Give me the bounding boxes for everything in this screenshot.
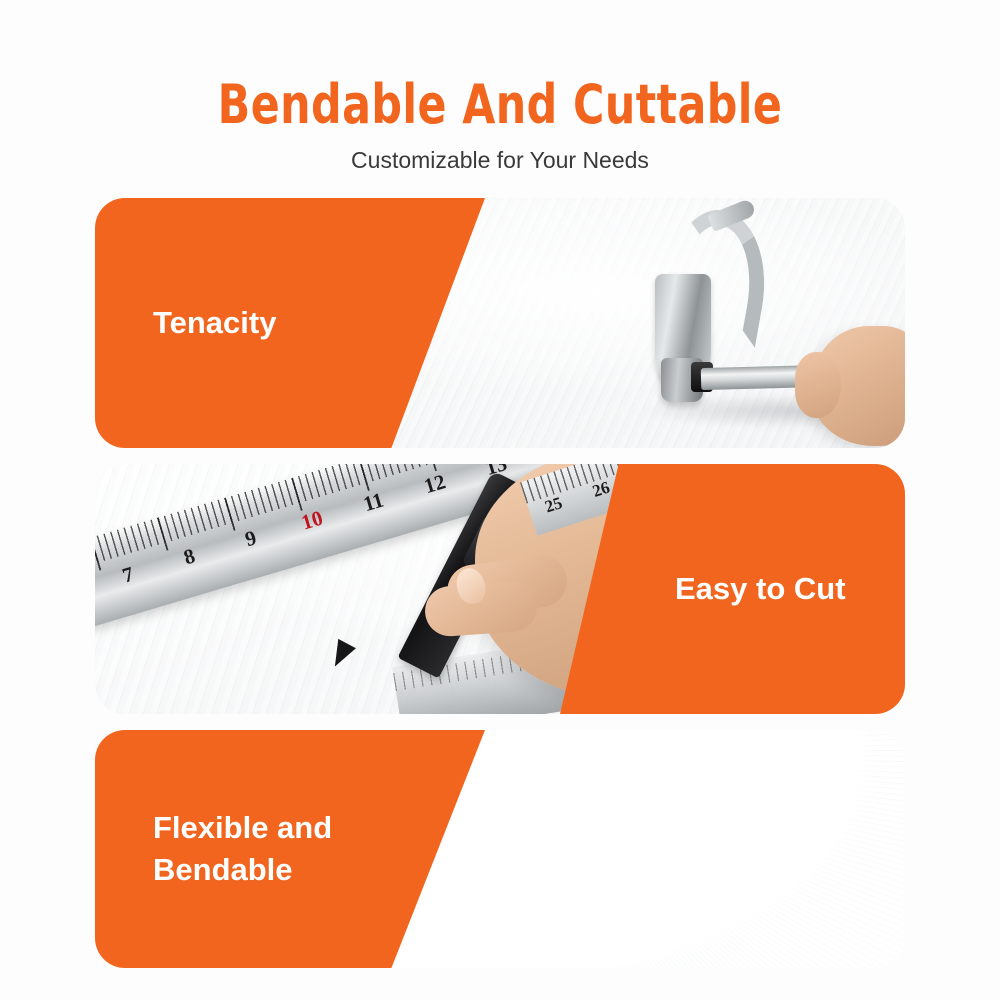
panel-label-tenacity: Tenacity [153,302,276,344]
feature-panel-tenacity[interactable]: Tenacity [95,198,905,448]
header: Bendable And Cuttable Customizable for Y… [0,0,1000,174]
label-wedge-easy-to-cut: Easy to Cut [560,464,905,714]
feature-panel-easy-to-cut[interactable]: 6 7 8 9 10 11 12 13 14 15 25 26 [95,464,905,714]
page-subtitle: Customizable for Your Needs [0,134,1000,174]
feature-panel-flexible-and-bendable[interactable]: Flexible and Bendable [95,730,905,968]
hand-holding-hammer [811,326,905,446]
page-title: Bendable And Cuttable [60,0,940,134]
panel-label-easy-to-cut: Easy to Cut [675,568,846,610]
panel-label-flexible-and-bendable: Flexible and Bendable [153,807,332,891]
